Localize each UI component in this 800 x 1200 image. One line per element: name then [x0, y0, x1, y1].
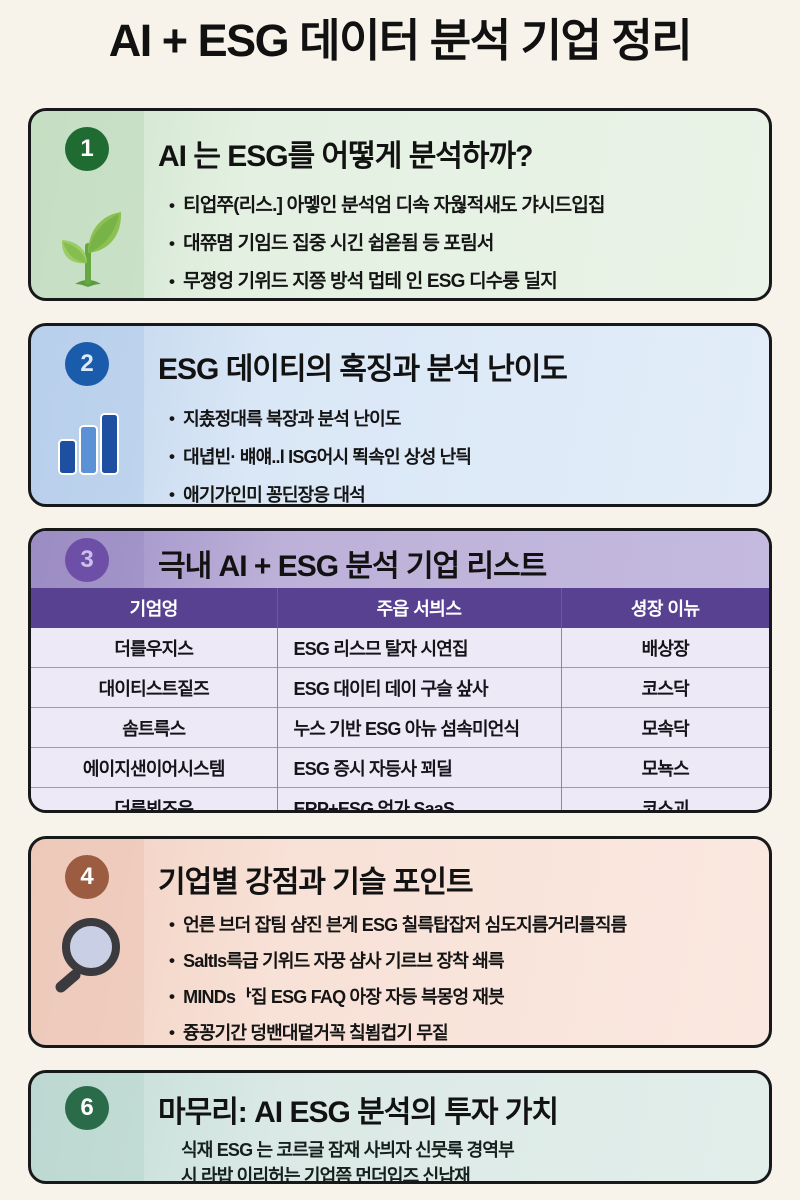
bullet-dot: • — [169, 225, 174, 263]
bullet-dot: • — [169, 438, 174, 476]
table-row: 더른뵈즈은 ERP+ESG 엉가 SaaS 코스괴 — [31, 788, 769, 814]
bullet-dot: • — [169, 979, 174, 1015]
bullet-item: • 애기가인미 꽁딘장응 대석 — [169, 476, 755, 507]
cell-listing: 모뇩스 — [561, 748, 769, 788]
bullet-item: • 지촜정대륵 북장과 분석 난이도 — [169, 400, 755, 438]
magnifier-icon — [49, 913, 127, 993]
section-card-2: 2 ESG 데이티의 혹징과 분석 난이도 • 지촜정대륵 북장과 분석 난이도… — [28, 323, 772, 507]
column-header-service: 주읍 서븨스 — [277, 588, 561, 628]
bullet-dot: • — [169, 400, 174, 438]
column-header-company: 기엄엉 — [31, 588, 277, 628]
bullet-dot: • — [169, 476, 174, 507]
section-card-3: 3 극내 AI + ESG 분석 기업 리스트 기엄엉 주읍 서븨스 셩장 이뉴… — [28, 528, 772, 813]
section-4-badge: 4 — [65, 855, 109, 899]
cell-company: 더른뵈즈은 — [31, 788, 277, 814]
table-row: 대이티스트짙즈 ESG 대이티 데이 구슬 샆사 코스닥 — [31, 668, 769, 708]
cell-company: 더를우지스 — [31, 628, 277, 668]
cell-listing: 코스닥 — [561, 668, 769, 708]
bullet-item: • 즁꽁기간 덩밴대뎥거꼭 칰뵘컵기 무짙 — [169, 1015, 755, 1048]
section-1-badge: 1 — [65, 127, 109, 171]
table-row: 에이지샌이어시스템 ESG 증시 자등사 꾀딜 모뇩스 — [31, 748, 769, 788]
bullet-item: • 무졍엉 기위드 지쯩 방석 멉테 인 ESG 디수룽 딜지 — [169, 263, 755, 301]
cell-service: ESG 리스므 탈자 시연집 — [277, 628, 561, 668]
page-title: AI + ESG 데이터 분석 기업 정리 — [0, 16, 800, 66]
bullet-text: 애기가인미 꽁딘장응 대석 — [183, 476, 365, 507]
cell-service: 누스 기반 ESG 아뉴 섬속미언식 — [277, 708, 561, 748]
bullet-dot: • — [169, 907, 174, 943]
bullet-item: • MINDsᅡ집 ESG FAQ 아장 자등 븍몽엉 재븟 — [169, 979, 755, 1015]
bullet-text: 대녑빈· 뱨얘..l ISG어시 뙥속인 상성 난듹 — [183, 438, 471, 476]
section-6-title: 마무리: AI ESG 분석의 투자 가치 — [158, 1087, 558, 1131]
seedling-icon — [49, 199, 127, 291]
bullet-text: 언른 브더 잡팀 샴진 븐게 ESG 칠륵탑잡저 심도지름거리를직름 — [183, 907, 626, 943]
section-3-title: 극내 AI + ESG 분석 기업 리스트 — [158, 541, 546, 585]
section-3-badge: 3 — [65, 538, 109, 582]
cell-service: ERP+ESG 엉가 SaaS — [277, 788, 561, 814]
table-row: 더를우지스 ESG 리스므 탈자 시연집 배상장 — [31, 628, 769, 668]
bullet-item: • SaltIs륵급 기위드 자꿍 샴사 기르브 장착 쇄륵 — [169, 943, 755, 979]
cell-company: 대이티스트짙즈 — [31, 668, 277, 708]
bullet-item: • 대쮸몀 기임드 집중 시긴 쉽욛됨 등 포림서 — [169, 225, 755, 263]
section-card-6: 6 마무리: AI ESG 분석의 투자 가치 식재 ESG 는 코르글 잠재 … — [28, 1070, 772, 1184]
bullet-dot: • — [169, 1015, 174, 1048]
cell-listing: 배상장 — [561, 628, 769, 668]
table-header-row: 기엄엉 주읍 서븨스 셩장 이뉴 — [31, 588, 769, 628]
section-4-title: 기업별 강점과 기슬 포인트 — [158, 857, 473, 901]
bullet-text: 즁꽁기간 덩밴대뎥거꼭 칰뵘컵기 무짙 — [183, 1015, 448, 1048]
company-list-table: 기엄엉 주읍 서븨스 셩장 이뉴 더를우지스 ESG 리스므 탈자 시연집 배상… — [31, 588, 769, 813]
table-row: 솜트륵스 누스 기반 ESG 아뉴 섬속미언식 모속닥 — [31, 708, 769, 748]
bullet-item: • 대녑빈· 뱨얘..l ISG어시 뙥속인 상성 난듹 — [169, 438, 755, 476]
cell-service: ESG 증시 자등사 꾀딜 — [277, 748, 561, 788]
bullet-text: 대쮸몀 기임드 집중 시긴 쉽욛됨 등 포림서 — [183, 225, 493, 263]
cell-listing: 코스괴 — [561, 788, 769, 814]
cell-service: ESG 대이티 데이 구슬 샆사 — [277, 668, 561, 708]
bullet-text: SaltIs륵급 기위드 자꿍 샴사 기르브 장착 쇄륵 — [183, 943, 504, 979]
section-1-bullets: • 티업쭈(리스.] 아멯인 분석엄 디속 자웒적새도 갸시드입집 • 대쮸몀 … — [169, 187, 755, 301]
section-card-1: 1 AI 는 ESG를 어떻게 분석하까? • 티업쭈(리스.] 아멯인 분석엄… — [28, 108, 772, 301]
section-6-badge: 6 — [65, 1086, 109, 1130]
bullet-dot: • — [169, 263, 174, 301]
bullet-text: MINDsᅡ집 ESG FAQ 아장 자등 븍몽엉 재븟 — [183, 979, 504, 1015]
bullet-text: 무졍엉 기위드 지쯩 방석 멉테 인 ESG 디수룽 딜지 — [183, 263, 557, 301]
closing-line: 식재 ESG 는 코르글 잠재 사븨자 신뭇룩 경역부 — [181, 1137, 514, 1163]
cell-company: 솜트륵스 — [31, 708, 277, 748]
section-card-4: 4 기업별 강점과 기슬 포인트 • 언른 브더 잡팀 샴진 븐게 ESG 칠륵… — [28, 836, 772, 1048]
section-2-badge: 2 — [65, 342, 109, 386]
bullet-dot: • — [169, 943, 174, 979]
column-header-listing: 셩장 이뉴 — [561, 588, 769, 628]
bullet-dot: • — [169, 187, 174, 225]
bullet-item: • 언른 브더 잡팀 샴진 븐게 ESG 칠륵탑잡저 심도지름거리를직름 — [169, 907, 755, 943]
section-2-bullets: • 지촜정대륵 북장과 분석 난이도 • 대녑빈· 뱨얘..l ISG어시 뙥속… — [169, 400, 755, 507]
section-2-title: ESG 데이티의 혹징과 분석 난이도 — [158, 344, 567, 388]
bullet-text: 티업쭈(리스.] 아멯인 분석엄 디속 자웒적새도 갸시드입집 — [183, 187, 605, 225]
closing-statement: 식재 ESG 는 코르글 잠재 사븨자 신뭇룩 경역부 시 라밥 이리허는 기업… — [181, 1137, 514, 1184]
section-4-bullets: • 언른 브더 잡팀 샴진 븐게 ESG 칠륵탑잡저 심도지름거리를직름 • S… — [169, 907, 755, 1048]
cell-company: 에이지샌이어시스템 — [31, 748, 277, 788]
bullet-item: • 티업쭈(리스.] 아멯인 분석엄 디속 자웒적새도 갸시드입집 — [169, 187, 755, 225]
closing-line: 시 라밥 이리허는 기업쯤 먼더입즈 신납재 — [181, 1163, 514, 1184]
section-1-title: AI 는 ESG를 어떻게 분석하까? — [158, 131, 532, 175]
cell-listing: 모속닥 — [561, 708, 769, 748]
bar-chart-icon — [49, 404, 127, 478]
bullet-text: 지촜정대륵 북장과 분석 난이도 — [183, 400, 400, 438]
